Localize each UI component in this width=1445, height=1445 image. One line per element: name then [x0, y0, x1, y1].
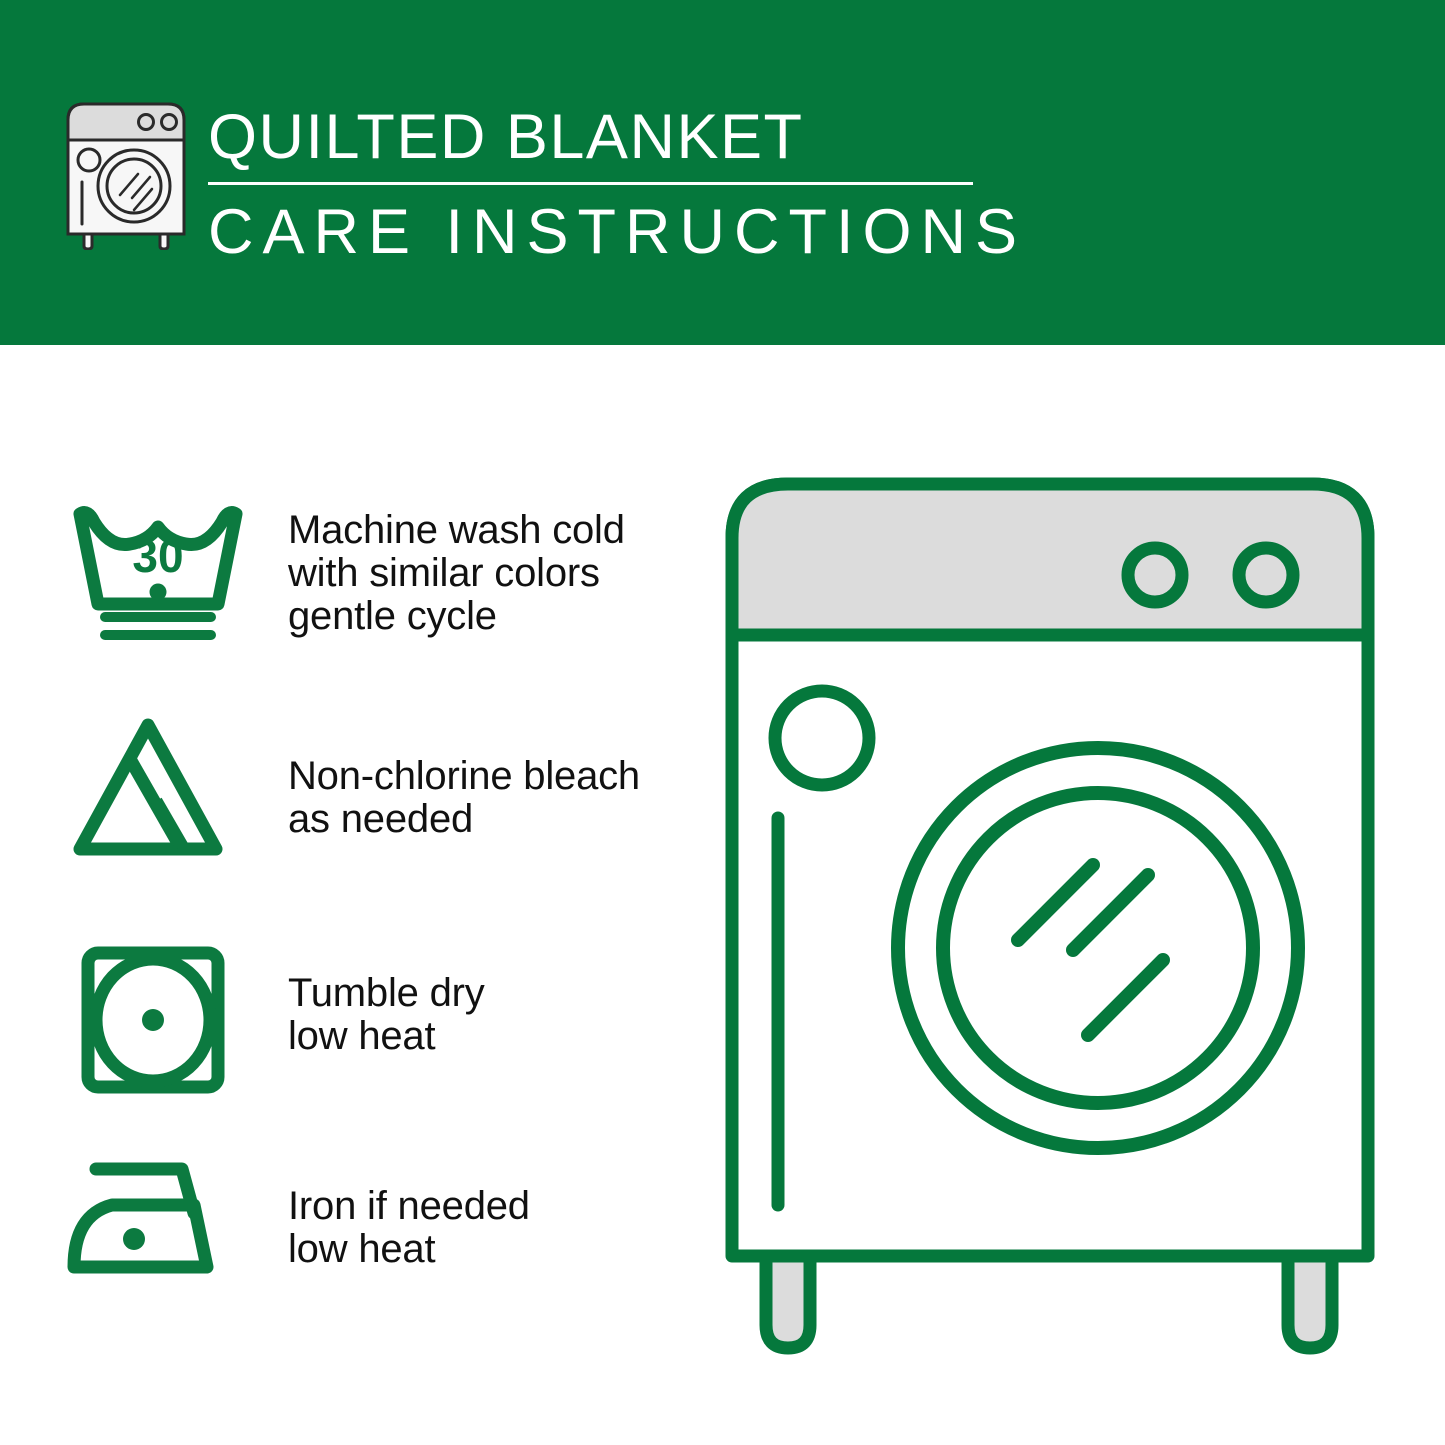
care-line: gentle cycle: [288, 595, 625, 638]
header-banner: QUILTED BLANKET CARE INSTRUCTIONS: [0, 0, 1445, 345]
care-text-iron: Iron if needed low heat: [288, 1185, 530, 1271]
care-line: low heat: [288, 1228, 530, 1271]
care-text-machine-wash: Machine wash cold with similar colors ge…: [288, 509, 625, 638]
front-load-washing-machine-illustration: [718, 470, 1398, 1360]
care-text-tumble-dry: Tumble dry low heat: [288, 972, 485, 1058]
washing-machine-icon: [62, 98, 190, 250]
non-chlorine-bleach-triangle-icon: [68, 713, 243, 865]
care-line: Non-chlorine bleach: [288, 755, 640, 798]
iron-low-heat-icon: [62, 1155, 242, 1285]
tumble-dry-low-icon: [78, 945, 228, 1095]
wash-tub-30-gentle-icon: 30: [68, 500, 248, 650]
care-line: Tumble dry: [288, 972, 485, 1015]
care-line: as needed: [288, 798, 640, 841]
care-line: Machine wash cold: [288, 509, 625, 552]
care-line: with similar colors: [288, 552, 625, 595]
header-title-block: QUILTED BLANKET CARE INSTRUCTIONS: [208, 100, 998, 267]
page-title-primary: QUILTED BLANKET: [208, 100, 998, 174]
care-instructions-page: QUILTED BLANKET CARE INSTRUCTIONS 30: [0, 0, 1445, 1445]
care-line: Iron if needed: [288, 1185, 530, 1228]
page-title-secondary: CARE INSTRUCTIONS: [208, 197, 998, 267]
care-text-bleach: Non-chlorine bleach as needed: [288, 755, 640, 841]
title-divider-rule: [208, 182, 973, 185]
care-line: low heat: [288, 1015, 485, 1058]
svg-text:30: 30: [132, 530, 183, 582]
care-instructions-list: 30 Machine wash cold with similar colors…: [0, 345, 700, 1445]
